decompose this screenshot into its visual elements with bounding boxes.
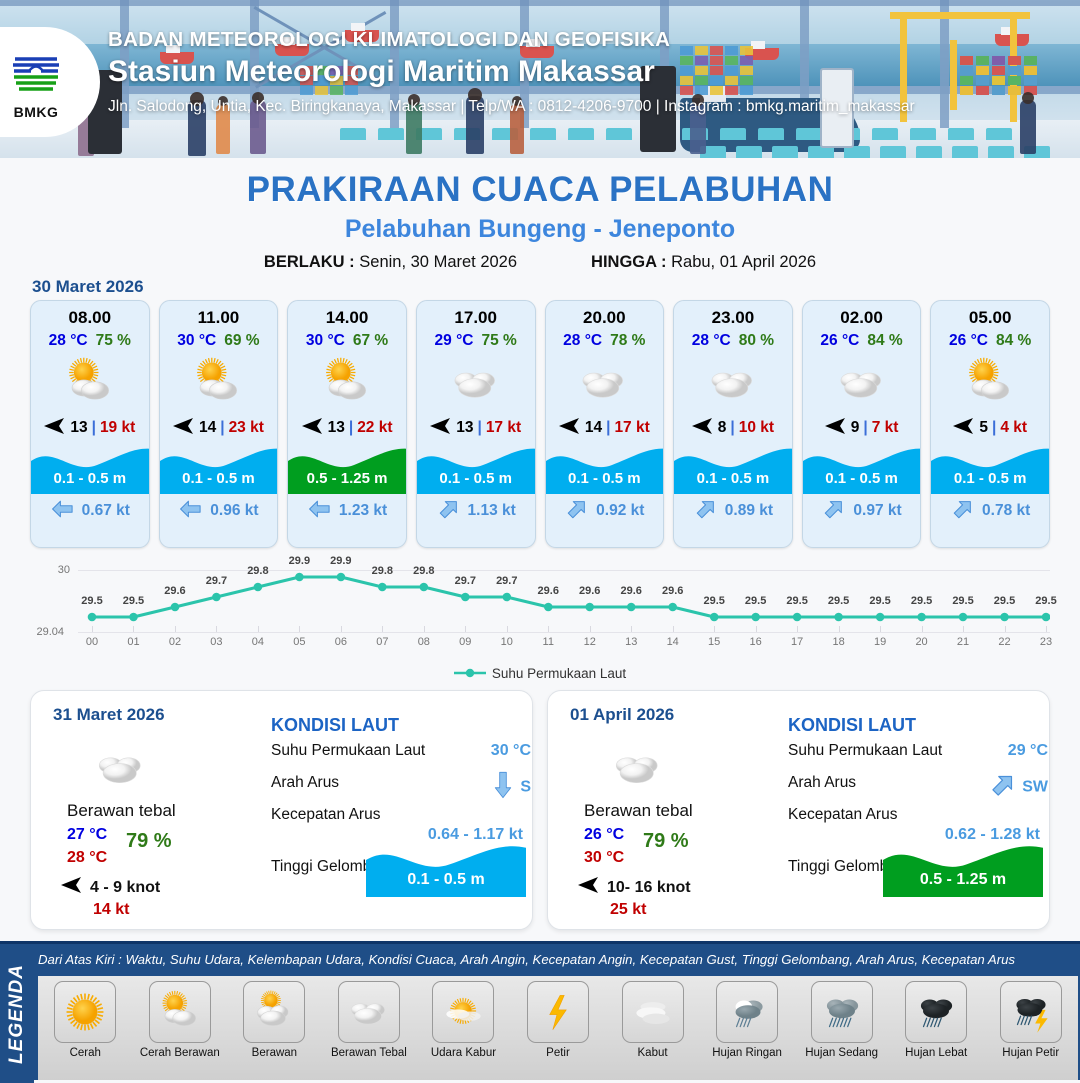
card-time: 08.00 (31, 308, 149, 328)
forecast-card: 02.00 26 °C 84 % 9 | 7 kt 0.1 - (802, 300, 922, 548)
sea-row-current-direction: Arah Arus SW (788, 774, 1048, 806)
card-temp-hum: 28 °C 78 % (546, 332, 664, 350)
legenda-item-label: Petir (546, 1047, 570, 1059)
legenda-item-label: Berawan Tebal (331, 1047, 407, 1059)
chart-data-label: 29.6 (573, 585, 607, 597)
chart-data-label: 29.7 (490, 575, 524, 587)
chart-x-tick: 17 (782, 636, 812, 648)
panel-wave-box: 0.5 - 1.25 m (883, 841, 1043, 897)
sea-row-label: Suhu Permukaan Laut (271, 742, 425, 759)
card-wave-band: 0.1 - 0.5 m (160, 444, 278, 494)
wind-direction-arrow-icon (302, 418, 324, 439)
page-title: PRAKIRAAN CUACA PELABUHAN (0, 170, 1080, 210)
card-wind-speed: 13 (328, 419, 345, 437)
card-gust: 22 kt (357, 419, 392, 437)
chart-axis-tick (797, 626, 798, 632)
forecast-card: 08.00 28 °C 75 % 13 | 19 kt 0.1 (30, 300, 150, 548)
chart-x-tick: 04 (243, 636, 273, 648)
chart-x-tick: 05 (284, 636, 314, 648)
chart-axis-tick (1046, 626, 1047, 632)
current-direction-arrow-icon (821, 496, 847, 527)
legenda-item-label: Cerah Berawan (140, 1047, 220, 1059)
card-wind-speed: 8 (718, 419, 727, 437)
card-wave-height: 0.1 - 0.5 m (417, 470, 535, 487)
legenda-item-label: Kabut (638, 1047, 668, 1059)
card-temperature: 30 °C (177, 332, 216, 350)
card-current-speed: 0.89 kt (725, 502, 773, 520)
card-temp-hum: 29 °C 75 % (417, 332, 535, 350)
cerah-icon (54, 981, 116, 1043)
sea-row-label: Arah Arus (271, 774, 339, 791)
chart-x-tick: 19 (865, 636, 895, 648)
card-humidity: 75 % (481, 332, 516, 350)
card-wave-band: 0.1 - 0.5 m (674, 444, 792, 494)
legenda-item-label: Hujan Petir (1002, 1047, 1059, 1059)
current-direction-arrow-icon (564, 496, 590, 527)
wind-separator: | (863, 419, 867, 437)
sea-row-value: SW (988, 770, 1048, 805)
chart-legend-swatch (454, 667, 486, 682)
chart-data-label: 29.5 (116, 595, 150, 607)
chart-axis-tick (922, 626, 923, 632)
chart-data-label: 29.6 (614, 585, 648, 597)
legenda-item: Hujan Petir (983, 976, 1078, 1080)
hujan-petir-icon (1000, 981, 1062, 1043)
bmkg-logo-text: BMKG (14, 104, 59, 120)
current-direction-sw-icon (988, 770, 1018, 805)
card-wave-height: 0.1 - 0.5 m (931, 470, 1049, 487)
card-temperature: 26 °C (949, 332, 988, 350)
legenda-item: Kabut (605, 976, 700, 1080)
chart-data-label: 29.5 (697, 595, 731, 607)
chart-x-tick: 18 (824, 636, 854, 648)
page-subtitle: Pelabuhan Bungeng - Jeneponto (0, 215, 1080, 244)
chart-x-tick: 12 (575, 636, 605, 648)
card-wave-height: 0.1 - 0.5 m (803, 470, 921, 487)
chart-axis-tick (590, 626, 591, 632)
card-current: 0.96 kt (160, 494, 278, 528)
chart-axis-tick (548, 626, 549, 632)
legenda-item-label: Hujan Ringan (712, 1047, 782, 1059)
panel-wave-height: 0.1 - 0.5 m (366, 871, 526, 889)
card-humidity: 78 % (610, 332, 645, 350)
card-current-speed: 1.13 kt (468, 502, 516, 520)
udara-kabur-icon (432, 981, 494, 1043)
card-current: 0.92 kt (546, 494, 664, 528)
legenda-item: Petir (511, 976, 606, 1080)
station-contact: Jln. Salodong, Untia, Kec. Biringkanaya,… (108, 98, 915, 116)
chart-data-label: 29.6 (656, 585, 690, 597)
valid-until-value: Rabu, 01 April 2026 (671, 253, 816, 271)
chart-data-label: 29.5 (1029, 595, 1063, 607)
legenda-item-label: Hujan Lebat (905, 1047, 967, 1059)
chart-legend-label: Suhu Permukaan Laut (492, 666, 626, 681)
card-humidity: 84 % (867, 332, 902, 350)
chart-data-label: 29.7 (199, 575, 233, 587)
forecast-card: 20.00 28 °C 78 % 14 | 17 kt 0.1 (545, 300, 665, 548)
legenda-icon-list: Cerah Cerah Berawan (38, 976, 1078, 1080)
panel-gust: 14 kt (93, 901, 129, 919)
card-current: 0.78 kt (931, 494, 1049, 528)
card-wind: 8 | 10 kt (674, 414, 792, 442)
legenda-bar: LEGENDA Dari Atas Kiri : Waktu, Suhu Uda… (0, 941, 1080, 1080)
panel-wave-height: 0.5 - 1.25 m (883, 871, 1043, 889)
card-temp-hum: 28 °C 80 % (674, 332, 792, 350)
panel-temp-min: 27 °C (67, 826, 107, 844)
chart-axis-tick (1005, 626, 1006, 632)
wind-separator: | (349, 419, 353, 437)
card-wave-band: 0.1 - 0.5 m (417, 444, 535, 494)
legenda-item: Berawan Tebal (322, 976, 417, 1080)
panel-temp-min: 26 °C (584, 826, 624, 844)
panel-temp-max: 28 °C (67, 849, 107, 867)
card-wind-speed: 5 (979, 419, 988, 437)
wind-direction-arrow-icon (173, 418, 195, 439)
chart-x-tick: 21 (948, 636, 978, 648)
panel-gust: 25 kt (610, 901, 646, 919)
chart-x-tick: 15 (699, 636, 729, 648)
chart-axis-tick (507, 626, 508, 632)
wind-separator: | (92, 419, 96, 437)
chart-x-tick: 11 (533, 636, 563, 648)
chart-data-label: 29.5 (739, 595, 773, 607)
panel-wind: 10- 16 knot (578, 877, 691, 898)
chart-x-tick: 02 (160, 636, 190, 648)
daily-forecast-panel: 31 Maret 2026 Berawan tebal 27 °C 28 °C … (30, 690, 533, 930)
chart-data-label: 29.5 (822, 595, 856, 607)
valid-until: HINGGA : Rabu, 01 April 2026 (591, 253, 816, 272)
legenda-side-text: LEGENDA (6, 964, 28, 1064)
legenda-item-label: Udara Kabur (431, 1047, 496, 1059)
card-wave-height: 0.1 - 0.5 m (31, 470, 149, 487)
card-time: 17.00 (417, 308, 535, 328)
chart-x-tick: 16 (741, 636, 771, 648)
panel-humidity: 79 % (126, 830, 172, 853)
current-direction-arrow-icon (178, 496, 204, 527)
title-block: PRAKIRAAN CUACA PELABUHAN Pelabuhan Bung… (0, 158, 1080, 272)
chart-x-tick: 13 (616, 636, 646, 648)
card-temp-hum: 26 °C 84 % (803, 332, 921, 350)
validity-row: BERLAKU : Senin, 30 Maret 2026 HINGGA : … (0, 253, 1080, 272)
chart-axis-tick (714, 626, 715, 632)
berawan-tebal-icon (606, 736, 670, 805)
card-temp-hum: 30 °C 67 % (288, 332, 406, 350)
daily-forecast-panels: 31 Maret 2026 Berawan tebal 27 °C 28 °C … (30, 690, 1050, 930)
sea-row-value: 30 °C (491, 742, 531, 760)
card-wind: 13 | 19 kt (31, 414, 149, 442)
card-gust: 7 kt (872, 419, 899, 437)
current-direction-arrow-icon (307, 496, 333, 527)
wind-direction-arrow-icon (559, 418, 581, 439)
sst-chart: Suhu Permukaan Laut 3029.040029.50129.50… (30, 556, 1050, 686)
card-wind-speed: 14 (199, 419, 216, 437)
sea-conditions-header: KONDISI LAUT (271, 715, 531, 736)
berawan-tebal-icon (803, 352, 921, 414)
card-wind: 13 | 22 kt (288, 414, 406, 442)
berawan-tebal-icon (674, 352, 792, 414)
chart-x-tick: 22 (990, 636, 1020, 648)
berawan-tebal-icon (546, 352, 664, 414)
chart-axis-tick (839, 626, 840, 632)
card-gust: 17 kt (614, 419, 649, 437)
wind-separator: | (606, 419, 610, 437)
card-temp-hum: 26 °C 84 % (931, 332, 1049, 350)
card-humidity: 75 % (96, 332, 131, 350)
valid-from-label: BERLAKU : (264, 253, 355, 271)
card-wave-band: 0.5 - 1.25 m (288, 444, 406, 494)
chart-data-label: 29.5 (905, 595, 939, 607)
page-header: BMKG BADAN METEOROLOGI KLIMATOLOGI DAN G… (0, 0, 1080, 158)
chart-x-tick: 23 (1031, 636, 1061, 648)
card-current: 0.89 kt (674, 494, 792, 528)
panel-wind-range: 4 - 9 knot (90, 879, 160, 897)
card-wave-band: 0.1 - 0.5 m (803, 444, 921, 494)
sea-row-value: S (492, 770, 531, 805)
chart-axis-tick (216, 626, 217, 632)
card-current: 1.13 kt (417, 494, 535, 528)
current-direction-arrow-icon (436, 496, 462, 527)
forecast-card: 23.00 28 °C 80 % 8 | 10 kt 0.1 (673, 300, 793, 548)
wind-direction-arrow-icon (825, 418, 847, 439)
cerah-berawan-icon (931, 352, 1049, 414)
chart-x-tick: 08 (409, 636, 439, 648)
wind-direction-arrow-icon (44, 418, 66, 439)
card-time: 02.00 (803, 308, 921, 328)
card-current-speed: 0.97 kt (853, 502, 901, 520)
card-temperature: 29 °C (435, 332, 474, 350)
berawan-icon (243, 981, 305, 1043)
legenda-item: Hujan Sedang (794, 976, 889, 1080)
card-wave-height: 0.1 - 0.5 m (546, 470, 664, 487)
chart-axis-tick (133, 626, 134, 632)
panel-condition: Berawan tebal (67, 801, 176, 821)
chart-axis-tick (963, 626, 964, 632)
agency-name: BADAN METEOROLOGI KLIMATOLOGI DAN GEOFIS… (108, 28, 915, 52)
forecast-card: 14.00 30 °C 67 % 13 | 22 kt 0.5 (287, 300, 407, 548)
card-wind: 14 | 23 kt (160, 414, 278, 442)
card-wave-height: 0.1 - 0.5 m (674, 470, 792, 487)
chart-data-label: 29.5 (946, 595, 980, 607)
kabut-icon (622, 981, 684, 1043)
card-humidity: 67 % (353, 332, 388, 350)
panel-wind-range: 10- 16 knot (607, 879, 691, 897)
hujan-sedang-icon (811, 981, 873, 1043)
card-gust: 10 kt (739, 419, 774, 437)
hujan-ringan-icon (716, 981, 778, 1043)
current-direction-arrow-icon (950, 496, 976, 527)
cerah-berawan-icon (160, 352, 278, 414)
chart-data-label: 29.7 (448, 575, 482, 587)
panel-temp-max: 30 °C (584, 849, 624, 867)
chart-axis-tick (341, 626, 342, 632)
valid-from: BERLAKU : Senin, 30 Maret 2026 (264, 253, 517, 272)
panel-humidity: 79 % (643, 830, 689, 853)
chart-data-label: 29.5 (988, 595, 1022, 607)
card-temperature: 30 °C (306, 332, 345, 350)
card-time: 05.00 (931, 308, 1049, 328)
chart-axis-tick (258, 626, 259, 632)
chart-data-label: 29.8 (241, 565, 275, 577)
card-wind: 13 | 17 kt (417, 414, 535, 442)
card-current-speed: 0.92 kt (596, 502, 644, 520)
legenda-item: Udara Kabur (416, 976, 511, 1080)
wind-direction-arrow-icon (578, 877, 600, 898)
card-wind-speed: 14 (585, 419, 602, 437)
wind-separator: | (730, 419, 734, 437)
card-temperature: 28 °C (563, 332, 602, 350)
card-time: 23.00 (674, 308, 792, 328)
chart-axis-tick (175, 626, 176, 632)
chart-axis-tick (382, 626, 383, 632)
chart-x-tick: 09 (450, 636, 480, 648)
card-gust: 23 kt (229, 419, 264, 437)
chart-x-tick: 06 (326, 636, 356, 648)
cerah-berawan-icon (31, 352, 149, 414)
chart-axis-tick (756, 626, 757, 632)
card-wave-band: 0.1 - 0.5 m (546, 444, 664, 494)
legenda-note: Dari Atas Kiri : Waktu, Suhu Udara, Kele… (38, 952, 1078, 967)
hujan-lebat-icon (905, 981, 967, 1043)
card-current-speed: 1.23 kt (339, 502, 387, 520)
forecast-day-label: 30 Maret 2026 (32, 277, 144, 297)
chart-axis-tick (880, 626, 881, 632)
chart-data-label: 29.9 (282, 555, 316, 567)
chart-x-tick: 07 (367, 636, 397, 648)
valid-from-value: Senin, 30 Maret 2026 (359, 253, 517, 271)
forecast-card: 05.00 26 °C 84 % 5 | 4 kt 0.1 - (930, 300, 1050, 548)
chart-data-label: 29.5 (863, 595, 897, 607)
hourly-forecast-cards: 08.00 28 °C 75 % 13 | 19 kt 0.1 (30, 300, 1050, 548)
sea-row-current-speed: Kecepatan Arus 0.62 - 1.28 kt (788, 806, 1048, 838)
card-current: 1.23 kt (288, 494, 406, 528)
chart-axis-tick (465, 626, 466, 632)
chart-data-label: 29.5 (75, 595, 109, 607)
card-current-speed: 0.96 kt (210, 502, 258, 520)
legenda-item: Cerah (38, 976, 133, 1080)
card-wind: 5 | 4 kt (931, 414, 1049, 442)
chart-axis-tick (299, 626, 300, 632)
card-time: 14.00 (288, 308, 406, 328)
sea-row-current-speed: Kecepatan Arus 0.64 - 1.17 kt (271, 806, 531, 838)
sea-row-label: Arah Arus (788, 774, 856, 791)
bmkg-logo-mark (7, 45, 65, 103)
legenda-item: Cerah Berawan (133, 976, 228, 1080)
card-wind-speed: 13 (70, 419, 87, 437)
card-gust: 19 kt (100, 419, 135, 437)
card-temperature: 26 °C (820, 332, 859, 350)
card-wave-band: 0.1 - 0.5 m (31, 444, 149, 494)
panel-date: 01 April 2026 (570, 705, 674, 725)
sea-row-current-direction: Arah Arus S (271, 774, 531, 806)
legenda-item-label: Cerah (70, 1047, 101, 1059)
chart-legend: Suhu Permukaan Laut (30, 666, 1050, 682)
chart-axis-tick (673, 626, 674, 632)
wind-separator: | (220, 419, 224, 437)
chart-x-tick: 03 (201, 636, 231, 648)
forecast-card: 11.00 30 °C 69 % 14 | 23 kt 0.1 (159, 300, 279, 548)
chart-x-tick: 14 (658, 636, 688, 648)
card-wind: 9 | 7 kt (803, 414, 921, 442)
card-current-speed: 0.67 kt (82, 502, 130, 520)
card-time: 11.00 (160, 308, 278, 328)
chart-x-tick: 10 (492, 636, 522, 648)
card-wind: 14 | 17 kt (546, 414, 664, 442)
panel-wave-box: 0.1 - 0.5 m (366, 841, 526, 897)
header-text-block: BADAN METEOROLOGI KLIMATOLOGI DAN GEOFIS… (108, 28, 915, 116)
chart-data-label: 29.9 (324, 555, 358, 567)
chart-x-tick: 01 (118, 636, 148, 648)
panel-condition: Berawan tebal (584, 801, 693, 821)
chart-axis-tick (631, 626, 632, 632)
card-current: 0.67 kt (31, 494, 149, 528)
sea-row-label: Suhu Permukaan Laut (788, 742, 942, 759)
card-current-speed: 0.78 kt (982, 502, 1030, 520)
wind-separator: | (992, 419, 996, 437)
panel-date: 31 Maret 2026 (53, 705, 165, 725)
sea-row-label: Kecepatan Arus (788, 806, 897, 823)
card-current: 0.97 kt (803, 494, 921, 528)
card-gust: 4 kt (1000, 419, 1027, 437)
chart-x-tick: 00 (77, 636, 107, 648)
card-wave-height: 0.1 - 0.5 m (160, 470, 278, 487)
card-humidity: 84 % (996, 332, 1031, 350)
panel-wind: 4 - 9 knot (61, 877, 160, 898)
wind-separator: | (477, 419, 481, 437)
wind-direction-arrow-icon (692, 418, 714, 439)
wind-direction-arrow-icon (430, 418, 452, 439)
chart-data-label: 29.6 (158, 585, 192, 597)
wind-direction-arrow-icon (953, 418, 975, 439)
legenda-item-label: Berawan (252, 1047, 297, 1059)
forecast-card: 17.00 29 °C 75 % 13 | 17 kt 0.1 (416, 300, 536, 548)
legenda-item: Hujan Lebat (889, 976, 984, 1080)
berawan-tebal-icon (417, 352, 535, 414)
card-time: 20.00 (546, 308, 664, 328)
legenda-side-label: LEGENDA (0, 944, 34, 1083)
card-temp-hum: 28 °C 75 % (31, 332, 149, 350)
sea-row-label: Kecepatan Arus (271, 806, 380, 823)
current-direction-arrow-icon (50, 496, 76, 527)
petir-icon (527, 981, 589, 1043)
current-direction-down-icon (492, 770, 514, 805)
card-wind-speed: 9 (851, 419, 860, 437)
berawan-tebal-icon (338, 981, 400, 1043)
card-humidity: 69 % (224, 332, 259, 350)
chart-data-label: 29.8 (365, 565, 399, 577)
card-wave-height: 0.5 - 1.25 m (288, 470, 406, 487)
sea-conditions-header: KONDISI LAUT (788, 715, 1048, 736)
chart-data-label: 29.5 (780, 595, 814, 607)
card-humidity: 80 % (739, 332, 774, 350)
legenda-item: Hujan Ringan (700, 976, 795, 1080)
cerah-berawan-icon (288, 352, 406, 414)
legenda-item-label: Hujan Sedang (805, 1047, 878, 1059)
card-wave-band: 0.1 - 0.5 m (931, 444, 1049, 494)
berawan-tebal-icon (89, 736, 153, 805)
current-direction-arrow-icon (693, 496, 719, 527)
valid-until-label: HINGGA : (591, 253, 666, 271)
chart-axis-tick (424, 626, 425, 632)
wind-direction-arrow-icon (61, 877, 83, 898)
daily-forecast-panel: 01 April 2026 Berawan tebal 26 °C 30 °C … (547, 690, 1050, 930)
station-name: Stasiun Meteorologi Maritim Makassar (108, 55, 915, 89)
chart-data-label: 29.8 (407, 565, 441, 577)
card-temperature: 28 °C (692, 332, 731, 350)
chart-x-tick: 20 (907, 636, 937, 648)
sea-row-value: 29 °C (1008, 742, 1048, 760)
card-wind-speed: 13 (456, 419, 473, 437)
card-gust: 17 kt (486, 419, 521, 437)
